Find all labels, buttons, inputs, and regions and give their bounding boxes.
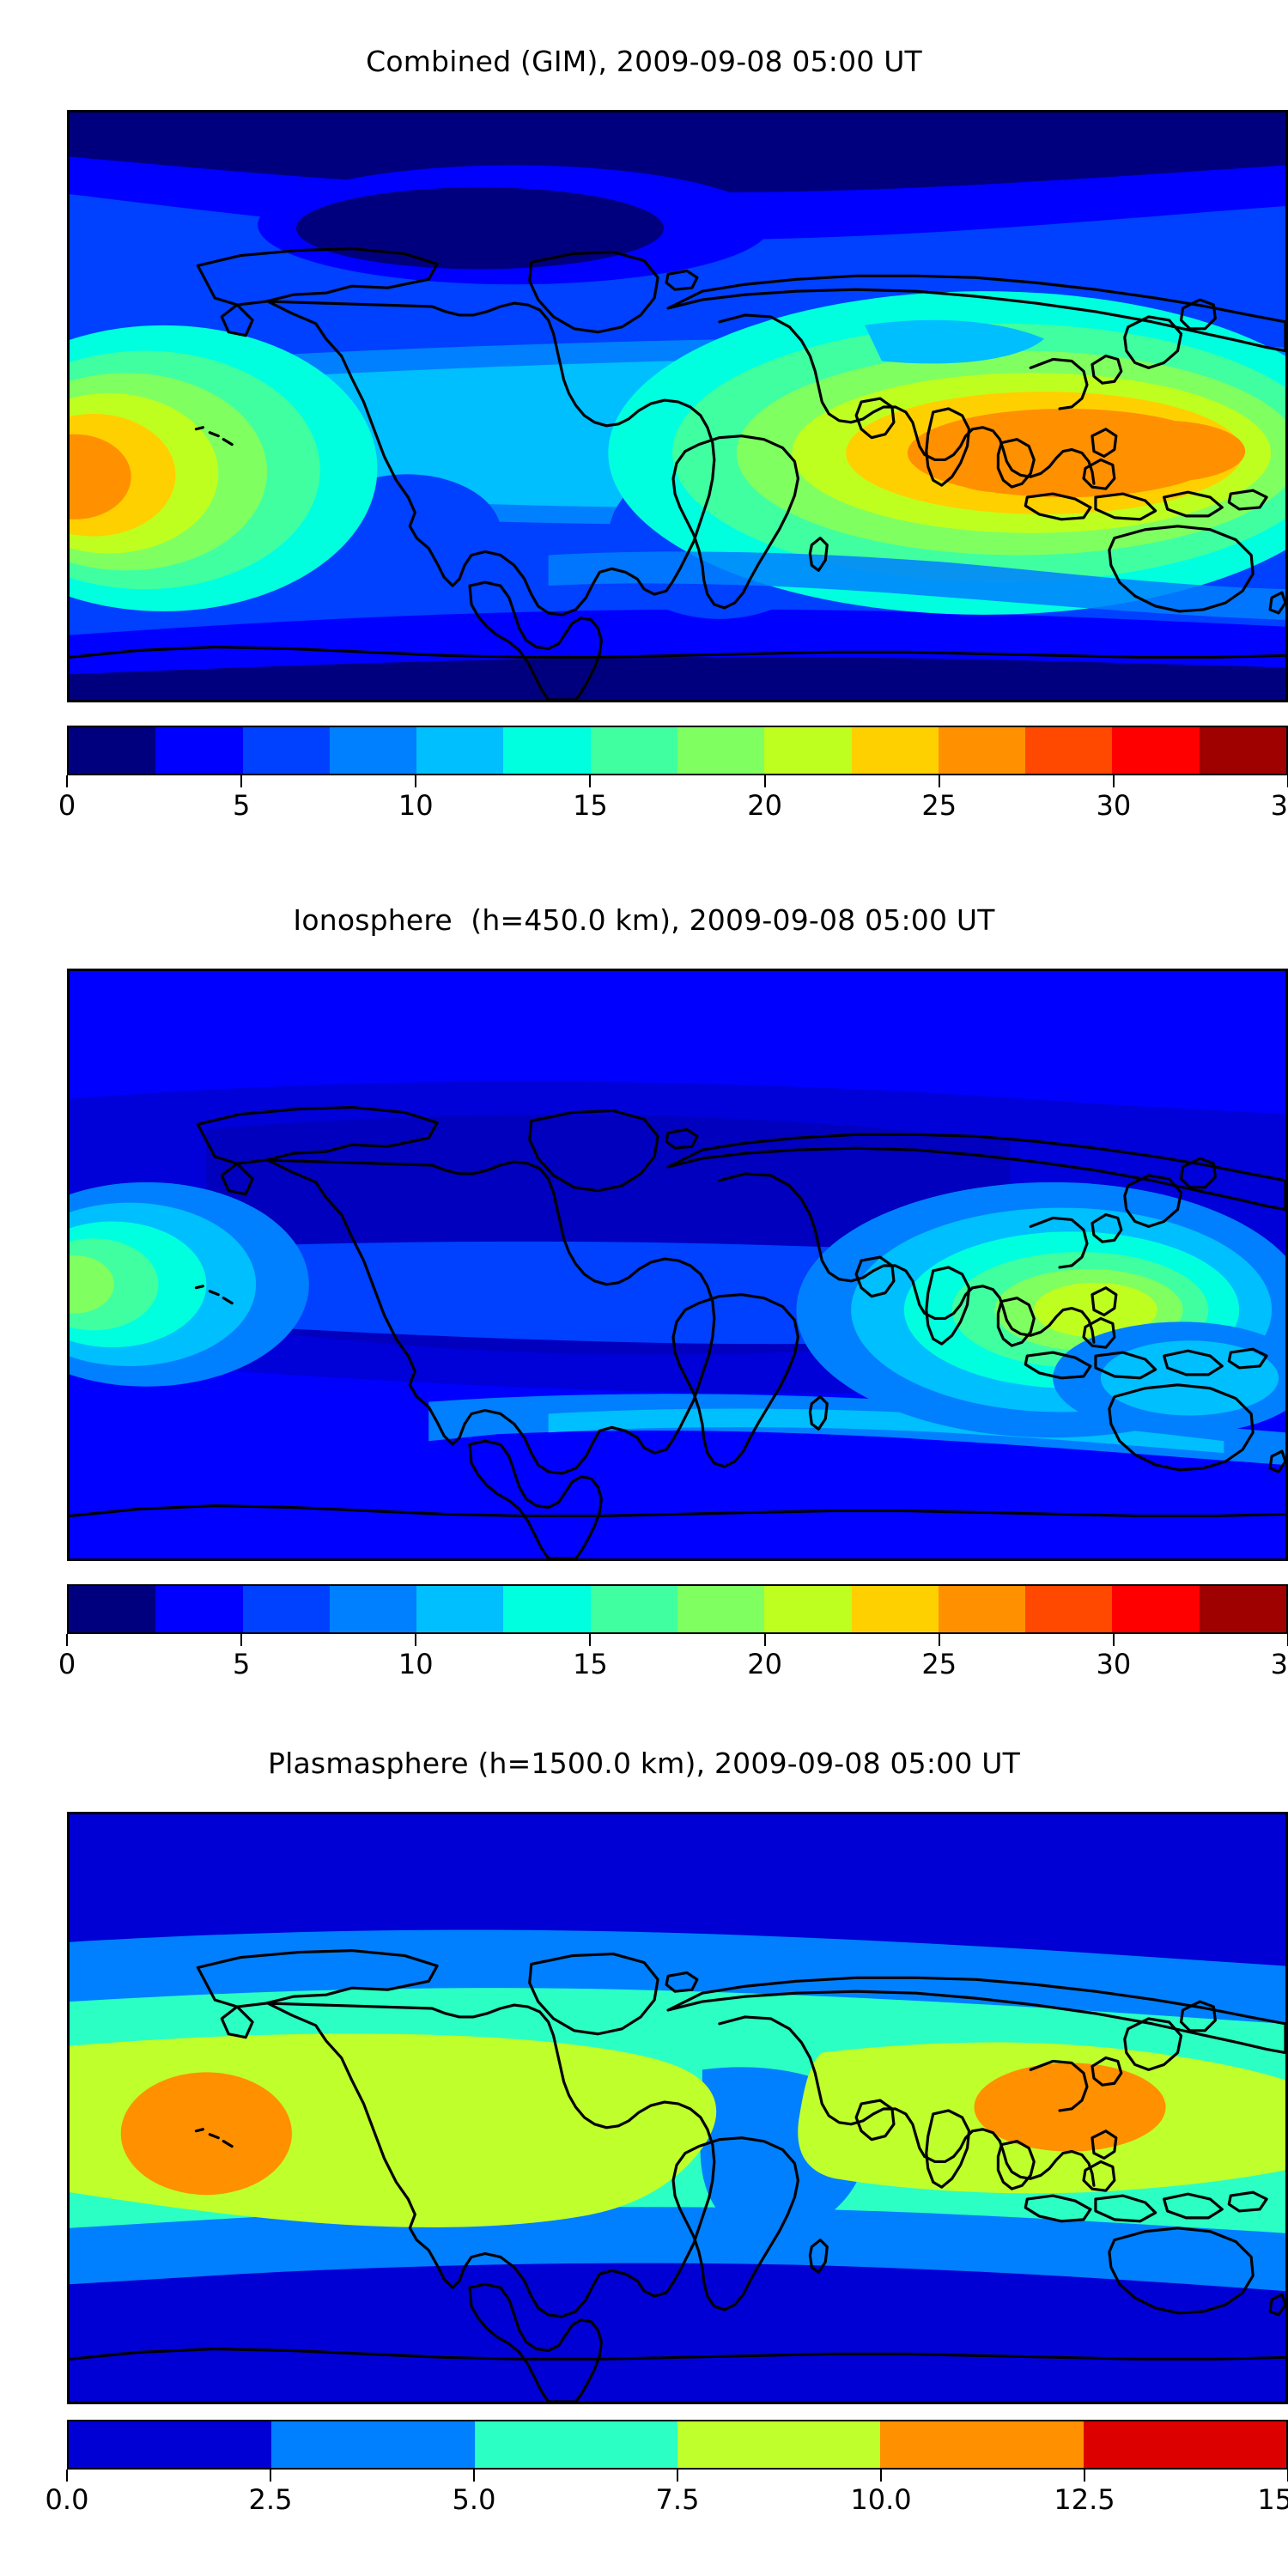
cb2-ticklabel-4: 20	[747, 1648, 782, 1680]
cb1-tick-6	[1113, 775, 1115, 787]
cb3-tick-1	[270, 2470, 271, 2482]
panel-plasmasphere-1500: Plasmasphere (h=1500.0 km), 2009-09-08 0…	[0, 1717, 1288, 2576]
colorbar-plasmasphere-1500: 0.0 2.5 5.0 7.5 10.0 12.5 15.0	[67, 2420, 1288, 2523]
cb1-tick-1	[240, 775, 242, 787]
colorbar-gradient-3	[67, 2420, 1288, 2470]
cb2-ticklabel-7: 35	[1271, 1648, 1288, 1680]
colorbar-combined-gim: 0 5 10 15 20 25 30 35	[67, 726, 1288, 829]
cb3-band-5	[1084, 2421, 1286, 2468]
cb2-band-4	[416, 1586, 503, 1632]
cb3-ticklabel-0: 0.0	[46, 2483, 89, 2516]
cb2-band-13	[1200, 1586, 1286, 1632]
cb1-ticklabel-3: 15	[573, 789, 608, 822]
cb2-band-12	[1112, 1586, 1199, 1632]
cb1-band-4	[416, 727, 503, 774]
cb2-tick-3	[589, 1634, 591, 1646]
cb2-band-10	[939, 1586, 1025, 1632]
cb1-ticklabel-7: 35	[1271, 789, 1288, 822]
map-contours-combined	[70, 112, 1285, 700]
cb2-tick-4	[764, 1634, 766, 1646]
cb1-ticklabel-0: 0	[58, 789, 76, 822]
map-plasmasphere-1500	[67, 1812, 1288, 2404]
cb3-band-0	[69, 2421, 271, 2468]
cb3-tick-0	[66, 2470, 68, 2482]
cb2-ticklabel-0: 0	[58, 1648, 76, 1680]
panel-title-ionosphere: Ionosphere (h=450.0 km), 2009-09-08 05:0…	[0, 903, 1288, 937]
cb1-band-13	[1200, 727, 1286, 774]
cb3-ticklabel-4: 10.0	[850, 2483, 911, 2516]
cb3-tick-2	[473, 2470, 475, 2482]
panel-ionosphere-450: Ionosphere (h=450.0 km), 2009-09-08 05:0…	[0, 859, 1288, 1717]
cb3-band-1	[271, 2421, 474, 2468]
cb2-tick-6	[1113, 1634, 1115, 1646]
figure-canvas: Combined (GIM), 2009-09-08 05:00 UT	[0, 0, 1288, 2576]
cb1-band-9	[852, 727, 939, 774]
cb1-band-12	[1112, 727, 1199, 774]
cb1-band-1	[155, 727, 242, 774]
cb2-ticklabel-6: 30	[1096, 1648, 1131, 1680]
cb3-band-3	[677, 2421, 880, 2468]
cb1-band-2	[243, 727, 330, 774]
cb3-band-2	[475, 2421, 677, 2468]
cb2-ticklabel-5: 25	[921, 1648, 957, 1680]
cb2-band-7	[677, 1586, 764, 1632]
cb2-tick-1	[240, 1634, 242, 1646]
cb3-ticklabel-3: 7.5	[656, 2483, 700, 2516]
colorbar-gradient-1	[67, 726, 1288, 775]
cb1-tick-5	[939, 775, 940, 787]
cb3-ticklabel-1: 2.5	[249, 2483, 293, 2516]
panel-combined-gim: Combined (GIM), 2009-09-08 05:00 UT	[0, 0, 1288, 859]
cb2-ticklabel-1: 5	[233, 1648, 250, 1680]
cb1-band-8	[764, 727, 851, 774]
cb1-band-3	[330, 727, 416, 774]
panel-title-plasmasphere: Plasmasphere (h=1500.0 km), 2009-09-08 0…	[0, 1747, 1288, 1780]
cb2-band-11	[1025, 1586, 1112, 1632]
cb3-ticklabel-6: 15.0	[1257, 2483, 1288, 2516]
cb3-tick-3	[677, 2470, 678, 2482]
map-contours-plasmasphere	[70, 1814, 1285, 2402]
pacific-max-blob	[121, 2072, 292, 2195]
colorbar-ionosphere-450: 0 5 10 15 20 25 30 35	[67, 1584, 1288, 1687]
asian-max-blob	[975, 2063, 1166, 2151]
cb1-ticklabel-1: 5	[233, 789, 250, 822]
cb1-band-10	[939, 727, 1025, 774]
cb2-band-8	[764, 1586, 851, 1632]
colorbar-gradient-2	[67, 1584, 1288, 1634]
cb1-ticklabel-6: 30	[1096, 789, 1131, 822]
cb1-band-11	[1025, 727, 1112, 774]
cb2-band-0	[69, 1586, 155, 1632]
cb3-band-4	[880, 2421, 1083, 2468]
cb1-band-5	[503, 727, 590, 774]
cb2-band-5	[503, 1586, 590, 1632]
cb1-ticklabel-5: 25	[921, 789, 957, 822]
cb1-band-7	[677, 727, 764, 774]
cb2-tick-5	[939, 1634, 940, 1646]
cb2-band-1	[155, 1586, 242, 1632]
cb1-band-0	[69, 727, 155, 774]
cb3-tick-5	[1084, 2470, 1085, 2482]
cb2-ticklabel-2: 10	[398, 1648, 434, 1680]
cb2-tick-0	[66, 1634, 68, 1646]
cb1-ticklabel-4: 20	[747, 789, 782, 822]
map-contours-ionosphere	[70, 971, 1285, 1558]
cb2-ticklabel-3: 15	[573, 1648, 608, 1680]
cb2-band-9	[852, 1586, 939, 1632]
cb1-tick-0	[66, 775, 68, 787]
cb3-ticklabel-5: 12.5	[1054, 2483, 1115, 2516]
cb1-tick-4	[764, 775, 766, 787]
map-combined-gim	[67, 110, 1288, 702]
cb1-tick-2	[415, 775, 416, 787]
cb1-tick-3	[589, 775, 591, 787]
cb2-band-2	[243, 1586, 330, 1632]
cb2-band-6	[591, 1586, 677, 1632]
map-ionosphere-450	[67, 969, 1288, 1561]
cb1-ticklabel-2: 10	[398, 789, 434, 822]
cb3-tick-4	[880, 2470, 882, 2482]
cb2-band-3	[330, 1586, 416, 1632]
cb2-tick-2	[415, 1634, 416, 1646]
cb3-ticklabel-2: 5.0	[453, 2483, 496, 2516]
panel-title-combined-gim: Combined (GIM), 2009-09-08 05:00 UT	[0, 45, 1288, 78]
cb1-band-6	[591, 727, 677, 774]
